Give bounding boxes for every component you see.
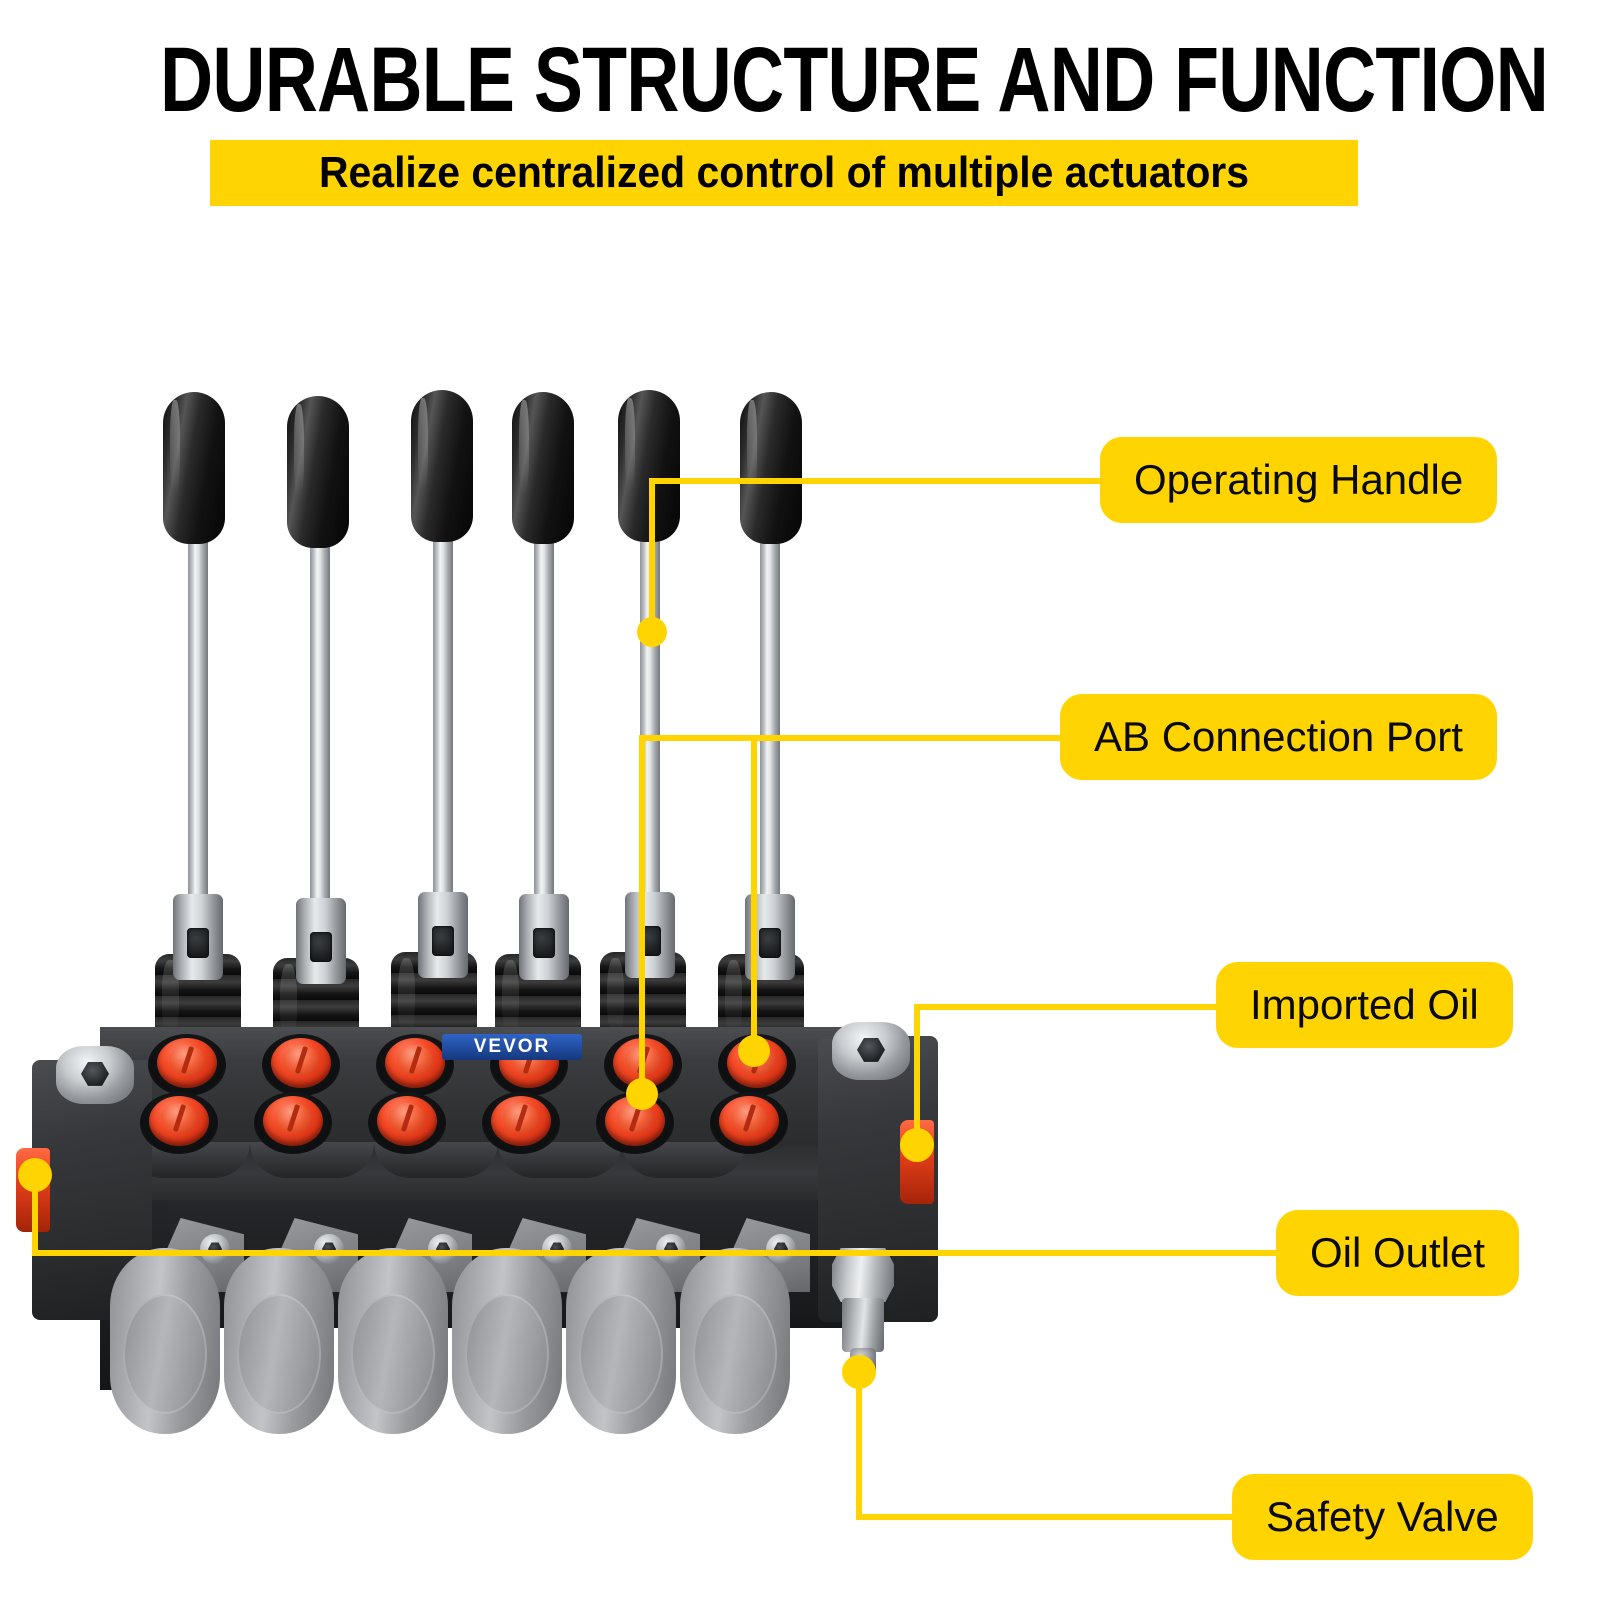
handle-rod-4 (534, 538, 554, 912)
ab-port-leader-vertical-upper (751, 735, 757, 1051)
ab-port-bottom-3 (368, 1092, 446, 1154)
end-cap-hex-right (832, 1022, 910, 1080)
ab-port-top-1 (148, 1034, 226, 1096)
operating-handle-leader-vertical (649, 478, 655, 628)
spool-end-cap-2 (224, 1248, 334, 1434)
operating-handle-knob-4 (512, 392, 574, 544)
imported-oil-leader-horizontal (914, 1004, 1224, 1010)
spool-end-cap-6 (680, 1248, 790, 1434)
oil-outlet-marker-dot (18, 1158, 52, 1192)
safety-valve-marker-dot (842, 1355, 876, 1389)
ab-port-bottom-1 (140, 1092, 218, 1154)
spool-end-cap-3 (338, 1248, 448, 1434)
spool-bolt-2 (314, 1234, 344, 1264)
spool-bolt-1 (200, 1234, 230, 1264)
operating-handle-knob-6 (740, 392, 802, 544)
callout-imported-oil[interactable]: Imported Oil (1216, 962, 1513, 1048)
brand-label: VEVOR (442, 1034, 582, 1060)
ab-port-marker-dot-upper (738, 1035, 770, 1067)
callout-oil-outlet[interactable]: Oil Outlet (1276, 1210, 1519, 1296)
spool-bolt-4 (542, 1234, 572, 1264)
spool-bolt-3 (428, 1234, 458, 1264)
callout-ab-connection-port[interactable]: AB Connection Port (1060, 694, 1497, 780)
ab-port-leader-horizontal (639, 735, 1069, 741)
safety-valve-leader-horizontal (856, 1514, 1236, 1520)
ab-port-bottom-2 (254, 1092, 332, 1154)
clevis-joint-1 (173, 894, 223, 980)
operating-handle-knob-1 (163, 392, 225, 544)
handle-rod-2 (310, 542, 330, 910)
handle-rod-6 (760, 538, 780, 910)
handle-rod-1 (188, 538, 208, 910)
ab-port-marker-dot-lower (626, 1078, 658, 1110)
hydraulic-directional-control-valve-image: VEVOR (0, 0, 1600, 1600)
safety-valve-leader-vertical (856, 1372, 862, 1520)
ab-port-leader-vertical-lower (639, 735, 645, 1093)
clevis-joint-2 (296, 898, 346, 984)
handle-rod-3 (433, 536, 453, 912)
operating-handle-leader-horizontal (649, 478, 1109, 484)
callout-operating-handle[interactable]: Operating Handle (1100, 437, 1497, 523)
spool-bolt-5 (656, 1234, 686, 1264)
clevis-joint-4 (519, 894, 569, 980)
imported-oil-marker-dot (900, 1128, 934, 1162)
ab-port-bottom-6 (710, 1092, 788, 1154)
operating-handle-marker-dot (637, 617, 667, 647)
imported-oil-leader-vertical (914, 1004, 920, 1144)
ab-port-top-2 (262, 1034, 340, 1096)
ab-port-bottom-4 (482, 1092, 560, 1154)
callout-safety-valve[interactable]: Safety Valve (1232, 1474, 1533, 1560)
operating-handle-knob-3 (411, 390, 473, 542)
oil-outlet-leader-horizontal (32, 1250, 1280, 1256)
clevis-joint-3 (418, 892, 468, 978)
spool-end-cap-5 (566, 1248, 676, 1434)
spool-end-cap-4 (452, 1248, 562, 1434)
end-cap-hex-left (56, 1046, 134, 1104)
spool-end-cap-1 (110, 1248, 220, 1434)
spool-bolt-6 (766, 1234, 796, 1264)
operating-handle-knob-2 (287, 396, 349, 548)
clevis-joint-5 (625, 892, 675, 978)
